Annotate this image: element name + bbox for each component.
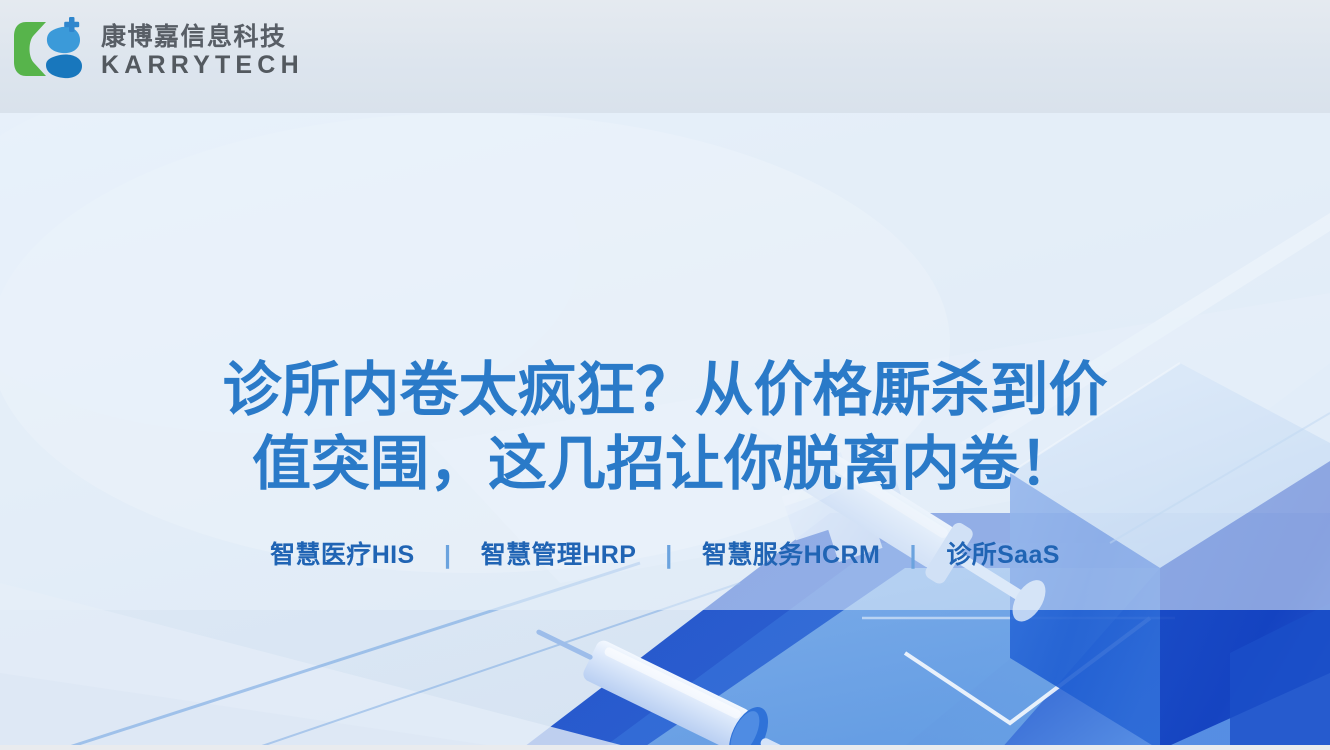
service-item-saas[interactable]: 诊所SaaS — [946, 541, 1060, 569]
service-separator-2: | — [643, 541, 694, 569]
karrytech-logo-mark — [12, 16, 88, 82]
bottom-edge-strip — [0, 745, 1330, 750]
header-bar: 康博嘉信息科技 KARRYTECH — [0, 0, 1330, 113]
title-line-1: 诊所内卷太疯狂？从价格厮杀到价 — [0, 353, 1330, 427]
service-separator-1: | — [422, 541, 473, 569]
service-item-hcrm[interactable]: 智慧服务HCRM — [702, 541, 880, 569]
title-line-2: 值突围，这几招让你脱离内卷！ — [0, 427, 1330, 501]
brand-logo[interactable]: 康博嘉信息科技 KARRYTECH — [12, 16, 304, 82]
service-item-his[interactable]: 智慧医疗HIS — [270, 541, 414, 569]
brand-name-en: KARRYTECH — [101, 51, 304, 79]
service-list: 智慧医疗HIS | 智慧管理HRP | 智慧服务HCRM | 诊所SaaS — [0, 535, 1330, 571]
page-title: 诊所内卷太疯狂？从价格厮杀到价 值突围，这几招让你脱离内卷！ — [0, 353, 1330, 502]
brand-name-cn: 康博嘉信息科技 — [101, 23, 304, 51]
brand-text: 康博嘉信息科技 KARRYTECH — [101, 20, 304, 79]
banner-slide: 康博嘉信息科技 KARRYTECH 诊所内卷太疯狂？从价格厮杀到价 值突围，这几… — [0, 0, 1330, 750]
service-separator-3: | — [888, 541, 939, 569]
service-item-hrp[interactable]: 智慧管理HRP — [481, 541, 636, 569]
